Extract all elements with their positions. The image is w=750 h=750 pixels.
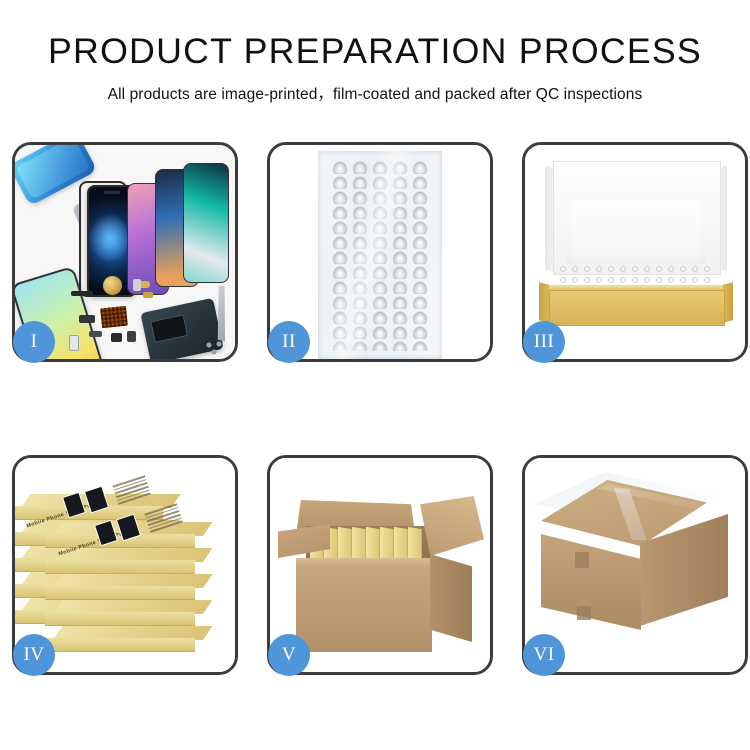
screws (205, 341, 227, 355)
carton-handle-tab-top (575, 552, 589, 568)
battery-connector (133, 279, 141, 291)
process-steps-grid: I II III (12, 142, 738, 675)
step-card-3: III (522, 142, 748, 362)
box-front-face (45, 586, 195, 600)
box-front-face (45, 638, 195, 652)
step-badge-3: III (523, 321, 565, 363)
step-card-2: II (267, 142, 493, 362)
carton-side-panel (430, 554, 472, 642)
carton-flap-right (420, 496, 484, 556)
small-black-part (79, 315, 95, 323)
vibration-motor (103, 276, 122, 295)
carton-handle-tab-bottom (577, 606, 591, 620)
box-front-panel (549, 290, 725, 326)
page-subtitle: All products are image-printed，film-coat… (0, 82, 750, 104)
box-front-face (45, 560, 195, 574)
retail-box (53, 600, 203, 626)
speaker-part (111, 333, 122, 342)
step-badge-2: II (268, 321, 310, 363)
step-badge-1: I (13, 321, 55, 363)
step-badge-4: IV (13, 634, 55, 676)
step-badge-6: VI (523, 634, 565, 676)
connector-chip-grid (100, 306, 128, 329)
step-card-4: Mobile Phone Spare Parts Mobile Phone Sp… (12, 455, 238, 675)
step-card-5: V (267, 455, 493, 675)
step-card-6: VI (522, 455, 748, 675)
small-grey-part (89, 331, 102, 337)
carton-front-panel (541, 534, 641, 630)
small-gold-part-2 (143, 292, 153, 298)
box-front-face (45, 612, 195, 626)
retail-box (53, 574, 203, 600)
step-card-1: I (12, 142, 238, 362)
box-stack: Mobile Phone Spare Parts Mobile Phone Sp… (21, 476, 231, 666)
foam-liner (567, 195, 705, 263)
carton-front-panel (296, 566, 432, 652)
page-header: PRODUCT PREPARATION PROCESS All products… (0, 0, 750, 104)
plastic-shine (318, 151, 442, 359)
step-badge-5: V (268, 634, 310, 676)
sim-tray-part (69, 335, 79, 351)
phone-display-teal (183, 163, 229, 283)
page-title: PRODUCT PREPARATION PROCESS (0, 34, 750, 71)
camera-module (127, 331, 136, 342)
display-glow (89, 213, 131, 263)
flex-cable-part (71, 291, 93, 296)
retail-box (53, 626, 203, 652)
